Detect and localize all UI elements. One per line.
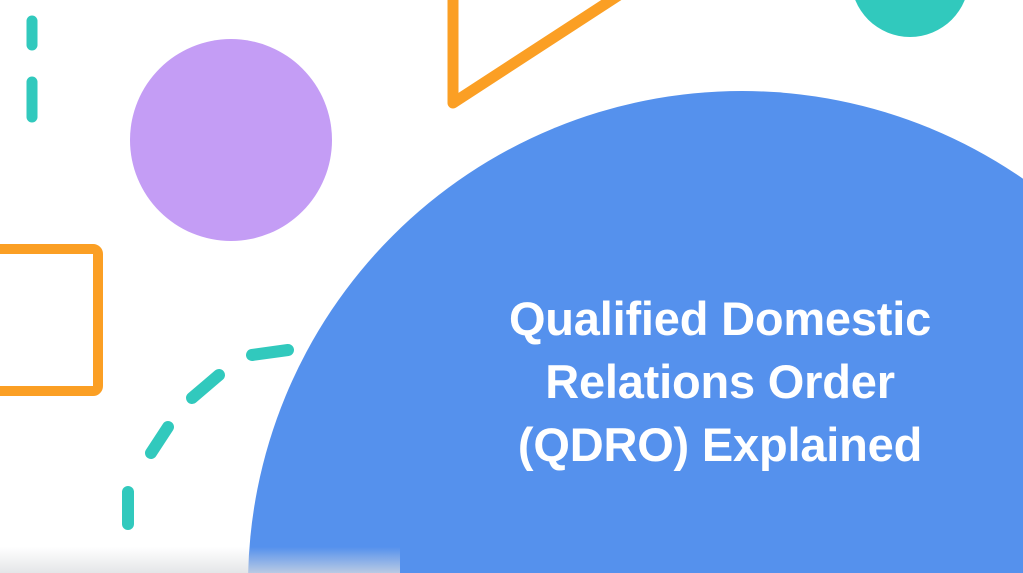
- orange-chevron-icon: [453, 0, 639, 103]
- video-title-slide: Qualified Domestic Relations Order (QDRO…: [0, 0, 1023, 573]
- slide-title: Qualified Domestic Relations Order (QDRO…: [466, 287, 974, 476]
- title-line-1: Qualified Domestic: [466, 287, 974, 350]
- teal-circle: [851, 0, 969, 37]
- orange-square-outline: [0, 249, 98, 391]
- title-line-3: (QDRO) Explained: [466, 413, 974, 476]
- purple-circle: [130, 39, 332, 241]
- title-line-2: Relations Order: [466, 350, 974, 413]
